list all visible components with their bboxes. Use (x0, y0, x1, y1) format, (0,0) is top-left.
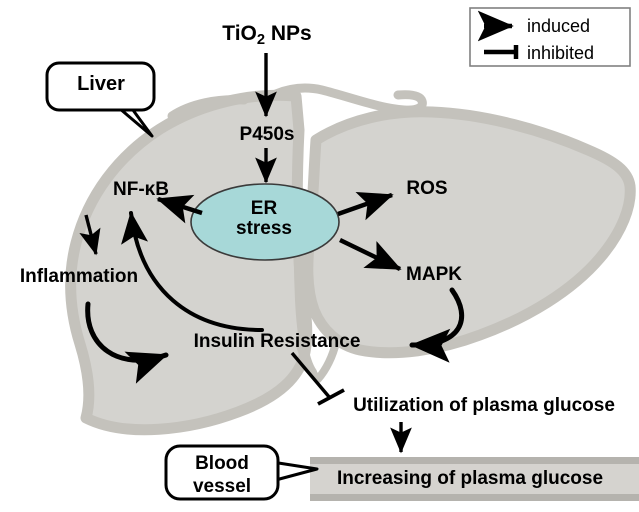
node-p450s: P450s (240, 125, 295, 145)
tio2-suffix: NPs (265, 22, 312, 45)
node-inflammation: Inflammation (20, 267, 138, 287)
liver-left-lobe (71, 95, 307, 429)
node-tio2-nps: TiO2 NPs (222, 23, 311, 45)
liver-organ-shape (71, 88, 631, 430)
blood-vessel-label-line2: vessel (193, 475, 251, 498)
node-nf-kb: NF-κB (113, 180, 169, 200)
legend-label-inhibited: inhibited (527, 43, 594, 64)
diagram-canvas: induced inhibited Liver Blood vessel TiO… (0, 0, 639, 512)
node-increasing-plasma-glucose: Increasing of plasma glucose (337, 469, 603, 489)
tio2-prefix: TiO (222, 22, 257, 45)
er-stress-line2: stress (236, 219, 292, 239)
tio2-subscript: 2 (257, 32, 265, 48)
blood-vessel-callout-label: Blood vessel (193, 452, 251, 498)
legend-label-induced: induced (527, 16, 590, 37)
node-er-stress: ER stress (236, 199, 292, 239)
node-utilization-plasma-glucose: Utilization of plasma glucose (353, 396, 615, 416)
blood-vessel-label-line1: Blood (193, 452, 251, 475)
node-mapk: MAPK (406, 265, 462, 285)
liver-callout-label: Liver (77, 74, 125, 95)
node-insulin-resistance: Insulin Resistance (194, 332, 361, 352)
er-stress-line1: ER (236, 199, 292, 219)
node-ros: ROS (406, 179, 447, 199)
liver-right-lobe (308, 112, 630, 353)
